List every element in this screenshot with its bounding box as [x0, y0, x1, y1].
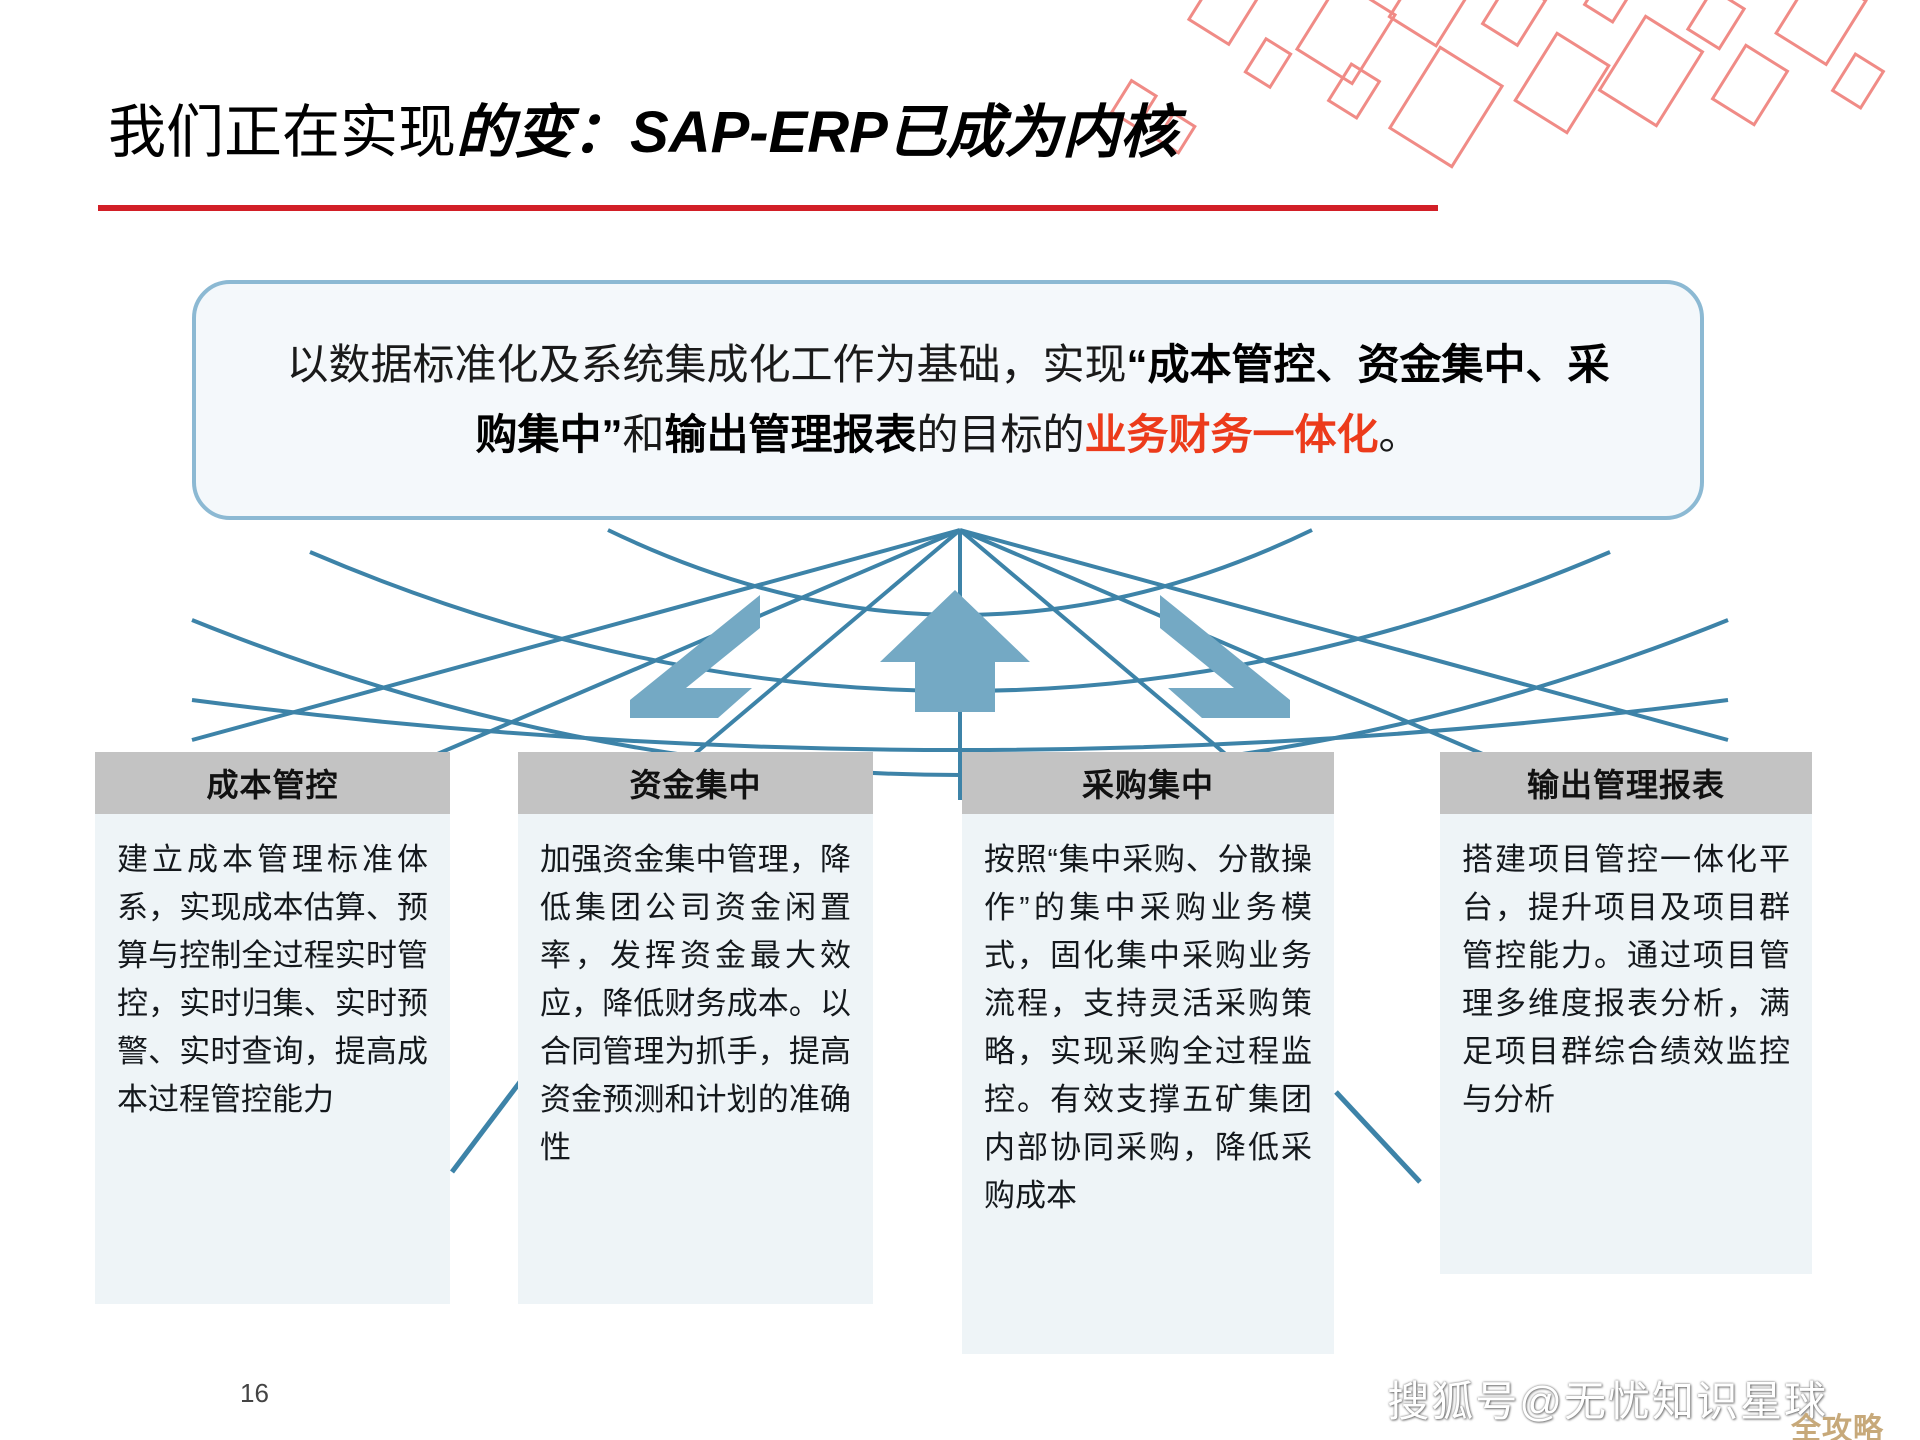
pillar-header: 输出管理报表	[1440, 752, 1812, 814]
decorative-square	[1243, 37, 1292, 90]
title-underline-rule	[98, 205, 1438, 211]
up-arrow-center	[880, 590, 1030, 712]
title-emphasis: 的变：SAP-ERP已成为内核	[456, 100, 1178, 165]
decorative-square	[1774, 0, 1868, 67]
fan-ray	[960, 530, 1728, 740]
summary-callout-text: 以数据标准化及系统集成化工作为基础，实现“成本管控、资金集中、采购集中”和输出管…	[248, 330, 1648, 470]
pillar-header: 采购集中	[962, 752, 1334, 814]
decorative-square	[1481, 0, 1548, 47]
callout-seg-6-highlight: 业务财务一体化	[1085, 411, 1379, 458]
decorative-square	[1187, 0, 1263, 46]
slide-canvas: 我们正在实现的变：SAP-ERP已成为内核 以数据标准化及系统集成化工作为基础，…	[0, 0, 1920, 1440]
decorative-square	[1513, 31, 1611, 134]
page-number: 16	[240, 1378, 269, 1409]
watermark-sub: 全攻略	[1791, 1404, 1884, 1440]
pillar-column-cost-control[interactable]: 成本管控 建立成本管理标准体系，实现成本估算、预算与控制全过程实时管控，实时归集…	[95, 752, 450, 1304]
pillar-body: 搭建项目管控一体化平台，提升项目及项目群管控能力。通过项目管理多维度报表分析，满…	[1440, 814, 1812, 1274]
pillar-column-fund-centralization[interactable]: 资金集中 加强资金集中管理，降低集团公司资金闲置率，发挥资金最大效应，降低财务成…	[518, 752, 873, 1304]
pillar-body: 建立成本管理标准体系，实现成本估算、预算与控制全过程实时管控，实时归集、实时预警…	[95, 814, 450, 1304]
decorative-square	[1387, 0, 1474, 48]
callout-seg-5: 的目标的	[917, 411, 1085, 458]
pillar-header: 成本管控	[95, 752, 450, 814]
callout-seg-7: 。	[1379, 411, 1421, 458]
callout-seg-3: 和	[622, 411, 664, 458]
pillar-column-management-reports[interactable]: 输出管理报表 搭建项目管控一体化平台，提升项目及项目群管控能力。通过项目管理多维…	[1440, 752, 1812, 1274]
decorative-square	[1295, 0, 1397, 86]
pillar-header: 资金集中	[518, 752, 873, 814]
decorative-square	[1831, 52, 1886, 110]
watermark-main: 搜狐号@无忧知识星球	[1387, 1368, 1828, 1429]
decorative-square	[1583, 0, 1638, 24]
pillar-columns: 成本管控 建立成本管理标准体系，实现成本估算、预算与控制全过程实时管控，实时归集…	[0, 752, 1920, 1362]
slide-title: 我们正在实现的变：SAP-ERP已成为内核	[108, 98, 1508, 190]
callout-seg-4-bold: 输出管理报表	[664, 411, 916, 458]
decorative-square	[1597, 14, 1704, 127]
upward-arrow-group	[630, 590, 1290, 718]
callout-seg-1: 以数据标准化及系统集成化工作为基础，实现	[286, 341, 1126, 388]
decorative-square	[1710, 43, 1789, 127]
pillar-body: 加强资金集中管理，降低集团公司资金闲置率，发挥资金最大效应，降低财务成本。以合同…	[518, 814, 873, 1304]
summary-callout-box: 以数据标准化及系统集成化工作为基础，实现“成本管控、资金集中、采购集中”和输出管…	[192, 280, 1704, 520]
decorative-square	[1686, 0, 1746, 51]
pillar-column-procurement-centralization[interactable]: 采购集中 按照“集中采购、分散操作”的集中采购业务模式，固化集中采购业务流程，支…	[962, 752, 1334, 1354]
title-plain: 我们正在实现	[108, 100, 456, 165]
pillar-body: 按照“集中采购、分散操作”的集中采购业务模式，固化集中采购业务流程，支持灵活采购…	[962, 814, 1334, 1354]
fan-ray	[192, 530, 960, 740]
